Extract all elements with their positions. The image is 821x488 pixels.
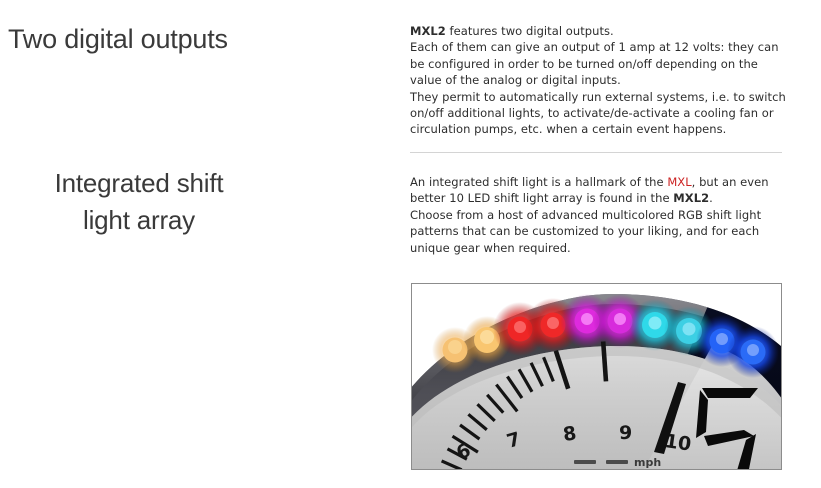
paragraph-line-text: features two digital outputs. bbox=[446, 24, 614, 38]
paragraph-digital-outputs: MXL2 features two digital outputs. Each … bbox=[410, 23, 786, 138]
paragraph-line: value of the analog or digital inputs. bbox=[410, 72, 786, 88]
paragraph-text-a: better 10 LED shift light array is found… bbox=[410, 191, 673, 205]
paragraph-line: better 10 LED shift light array is found… bbox=[410, 190, 786, 206]
product-name-mxl2: MXL2 bbox=[673, 191, 709, 205]
paragraph-line: MXL2 features two digital outputs. bbox=[410, 23, 786, 39]
left-headings-column: Two digital outputs Integrated shift lig… bbox=[0, 0, 400, 488]
paragraph-text-a: An integrated shift light is a hallmark … bbox=[410, 175, 667, 189]
paragraph-line: patterns that can be customized to your … bbox=[410, 223, 786, 239]
gauge-inner: 6 7 8 9 10 mph bbox=[412, 284, 781, 469]
paragraph-text-b: , but an even bbox=[692, 175, 769, 189]
section-divider bbox=[410, 152, 782, 153]
heading-line-2: light array bbox=[0, 202, 278, 239]
paragraph-line: An integrated shift light is a hallmark … bbox=[410, 174, 786, 190]
gauge-unit-label: mph bbox=[634, 456, 661, 469]
led-blue-2 bbox=[727, 326, 779, 378]
shift-light-gauge-image: 6 7 8 9 10 mph bbox=[411, 283, 782, 470]
paragraph-line: be configured in order to be turned on/o… bbox=[410, 56, 786, 72]
heading-two-digital-outputs: Two digital outputs bbox=[8, 22, 228, 56]
paragraph-shift-light: An integrated shift light is a hallmark … bbox=[410, 174, 786, 256]
paragraph-line: Each of them can give an output of 1 amp… bbox=[410, 39, 786, 55]
paragraph-line: on/off additional lights, to activate/de… bbox=[410, 105, 786, 121]
paragraph-line: They permit to automatically run externa… bbox=[410, 89, 786, 105]
gauge-illustration: 6 7 8 9 10 mph bbox=[412, 284, 781, 469]
heading-integrated-shift-light-array: Integrated shift light array bbox=[0, 165, 278, 239]
product-name-mxl: MXL bbox=[667, 175, 691, 189]
paragraph-line: Choose from a host of advanced multicolo… bbox=[410, 207, 786, 223]
paragraph-line: circulation pumps, etc. when a certain e… bbox=[410, 121, 786, 137]
heading-line-1: Integrated shift bbox=[0, 165, 278, 202]
scale-label-9: 9 bbox=[619, 422, 632, 444]
paragraph-line: unique gear when required. bbox=[410, 240, 786, 256]
paragraph-text-b: . bbox=[709, 191, 713, 205]
product-name-mxl2: MXL2 bbox=[410, 24, 446, 38]
